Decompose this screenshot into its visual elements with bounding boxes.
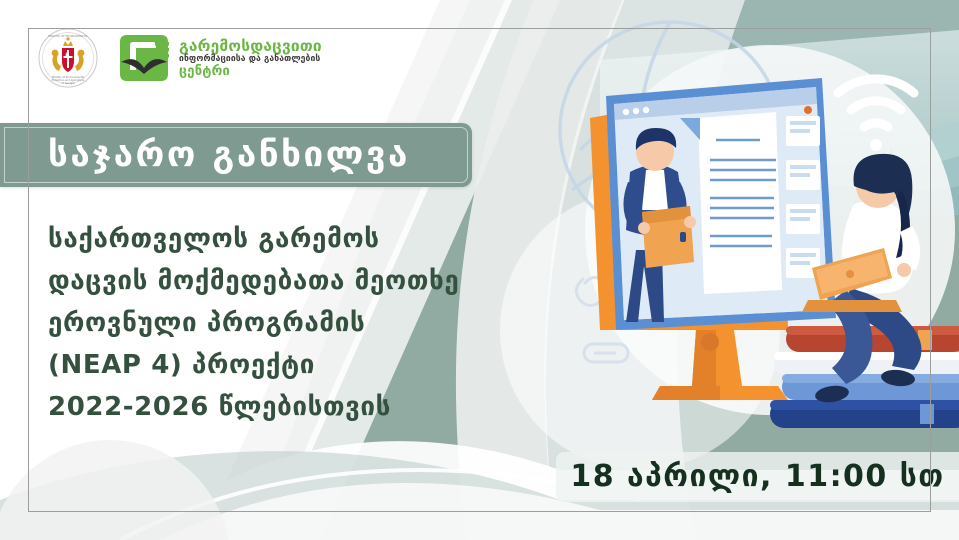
ministry-emblem-icon: MINISTRY OF ENVIRONMENTAL Ministry of En… [38,28,98,88]
poster-canvas: MINISTRY OF ENVIRONMENTAL Ministry of En… [0,0,959,540]
headline-line-2: დაცვის მოქმედებათა მეოთხე [48,260,468,302]
headline-line-5: 2022-2026 წლებისთვის [48,386,468,428]
headline-line-4: (NEAP 4) პროექტი [48,344,468,386]
headline-line-1: საქართველოს გარემოს [48,218,468,260]
title-banner: საჯარო განხილვა [0,123,472,187]
org-logo: გარემოსდაცვითი ინფორმაციისა და განათლები… [116,32,322,84]
org-logo-line1: გარემოსდაცვითი [179,38,322,54]
headline-line-3: ეროვნული პროგრამის [48,302,468,344]
logo-row: MINISTRY OF ENVIRONMENTAL Ministry of En… [38,28,322,88]
org-logo-line2: ინფორმაციისა და განათლების [179,55,322,64]
svg-text:of Georgia: of Georgia [61,81,74,85]
title-banner-text: საჯარო განხილვა [0,138,410,173]
date-banner-text: 18 აპრილი, 11:00 სთ [570,462,944,492]
wifi-icon-arcs [838,79,914,151]
org-logo-line3: ცენტრი [179,65,322,79]
headline-block: საქართველოს გარემოს დაცვის მოქმედებათა მ… [48,218,468,429]
open-book-square-icon [116,32,172,84]
date-banner: 18 აპრილი, 11:00 სთ [556,452,959,502]
svg-text:MINISTRY OF ENVIRONMENTAL: MINISTRY OF ENVIRONMENTAL [48,34,88,38]
